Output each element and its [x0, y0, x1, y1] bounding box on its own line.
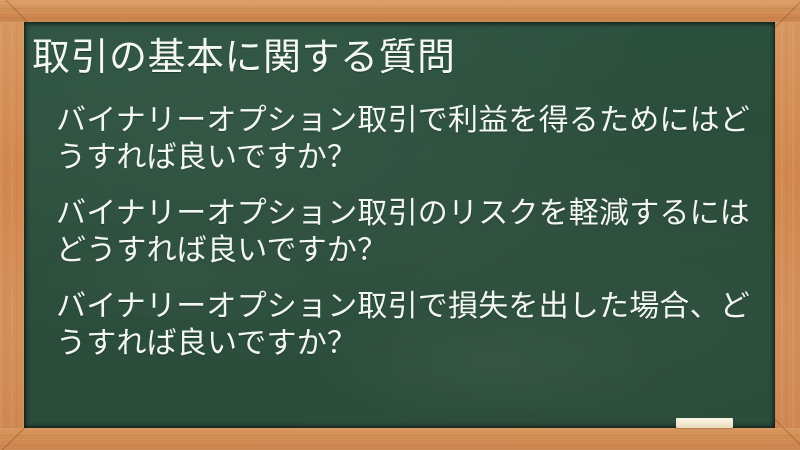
chalkboard-surface: 取引の基本に関する質問 バイナリーオプション取引で利益を得るためにはどうすれば良…	[24, 22, 775, 428]
chalkboard-content: 取引の基本に関する質問 バイナリーオプション取引で利益を得るためにはどうすれば良…	[24, 22, 775, 428]
question-list: バイナリーオプション取引で利益を得るためにはどうすれば良いですか？ バイナリーオ…	[56, 102, 756, 362]
question-item: バイナリーオプション取引のリスクを軽減するにはどうすれば良いですか？	[56, 195, 756, 269]
frame-rail-bottom	[0, 428, 800, 450]
chalk-stick-icon	[676, 418, 733, 428]
question-item: バイナリーオプション取引で損失を出した場合、どうすれば良いですか？	[56, 288, 756, 362]
blackboard-slide: 取引の基本に関する質問 バイナリーオプション取引で利益を得るためにはどうすれば良…	[0, 0, 800, 450]
question-item: バイナリーオプション取引で利益を得るためにはどうすれば良いですか？	[56, 102, 756, 176]
frame-rail-top	[0, 0, 800, 22]
slide-title: 取引の基本に関する質問	[32, 34, 456, 80]
